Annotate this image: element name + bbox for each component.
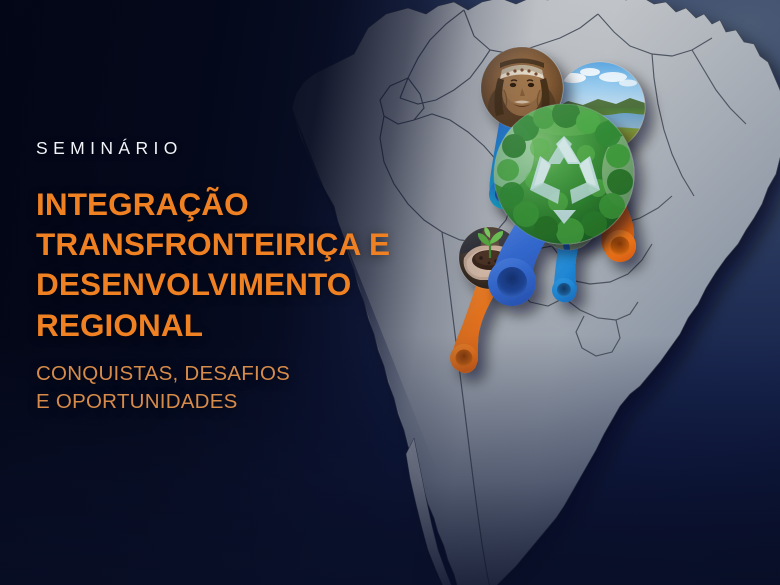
subtitle: CONQUISTAS, DESAFIOS E OPORTUNIDADES [36,360,436,416]
poster-canvas: SEMINÁRIO INTEGRAÇÃO TRANSFRONTEIRIÇA E … [0,0,780,585]
page-title: INTEGRAÇÃO TRANSFRONTEIRIÇA E DESENVOLVI… [36,184,408,346]
text-block: SEMINÁRIO INTEGRAÇÃO TRANSFRONTEIRIÇA E … [36,140,436,416]
eyebrow-label: SEMINÁRIO [36,140,436,158]
subtitle-line-1: CONQUISTAS, DESAFIOS [36,360,436,388]
subtitle-line-2: E OPORTUNIDADES [36,388,436,416]
